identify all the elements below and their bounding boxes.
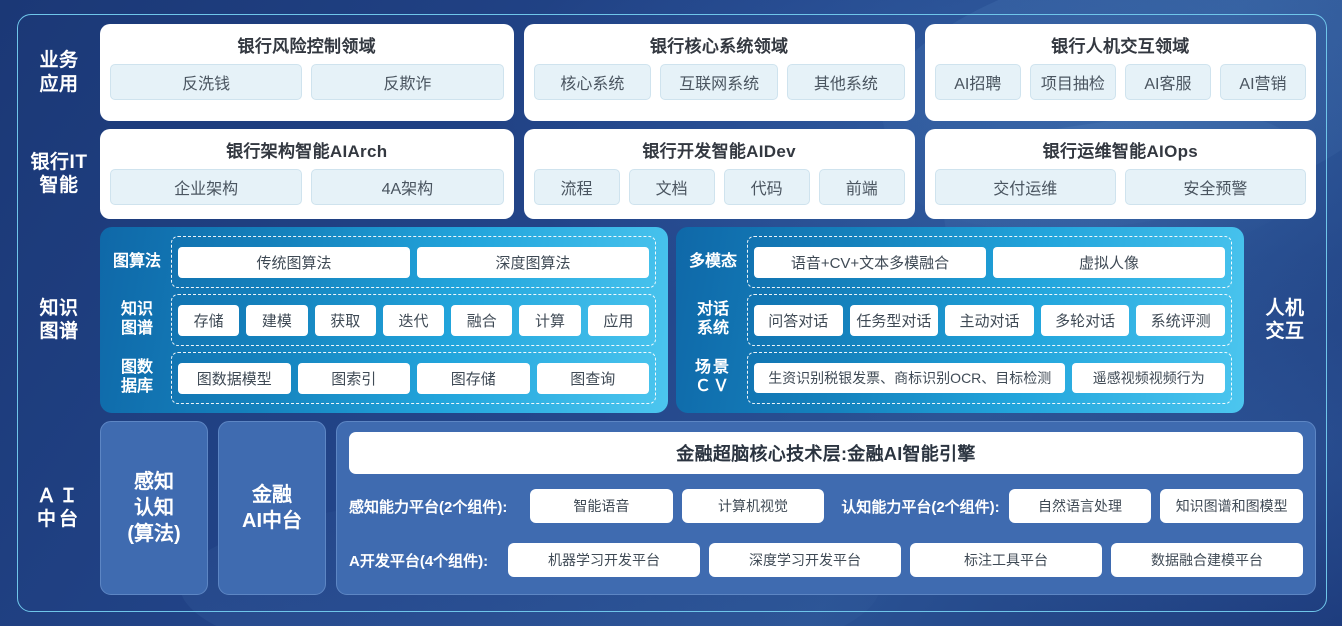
kg-item[interactable]: 传统图算法 — [178, 247, 410, 278]
kg-item[interactable]: 深度图算法 — [417, 247, 649, 278]
kg-item[interactable]: 图数据模型 — [178, 363, 291, 394]
kg-item[interactable]: 图存储 — [417, 363, 530, 394]
hmi-item[interactable]: 问答对话 — [754, 305, 843, 336]
tile-financial-ai-platform[interactable]: 金融 AI中台 — [218, 421, 326, 595]
chip-group: AI招聘 项目抽检 AI客服 AI营销 — [935, 64, 1306, 100]
chip-item[interactable]: 其他系统 — [787, 64, 905, 100]
chip-group: 反洗钱 反欺诈 — [110, 64, 504, 100]
panel-knowledge-graph: 图算法 传统图算法 深度图算法 知识 图谱 存储 建模 获取 迭代 — [100, 227, 668, 413]
platform-component[interactable]: 知识图谱和图模型 — [1160, 489, 1303, 523]
chip-item[interactable]: 核心系统 — [534, 64, 652, 100]
layer-knowledge-and-interaction: 知识 图谱 图算法 传统图算法 深度图算法 知识 图谱 存储 — [28, 227, 1316, 413]
platform-component[interactable]: 智能语音 — [530, 489, 673, 523]
chip-item[interactable]: 文档 — [629, 169, 715, 205]
chip-item[interactable]: 4A架构 — [311, 169, 503, 205]
platform-label-development: A开发平台(4个组件): — [349, 550, 499, 571]
hmi-item[interactable]: 系统评测 — [1136, 305, 1225, 336]
hmi-item[interactable]: 主动对话 — [945, 305, 1034, 336]
layer-label-human-machine: 人机 交互 — [1254, 227, 1316, 413]
card-title: 银行运维智能AIOps — [1043, 137, 1198, 162]
card-aidev[interactable]: 银行开发智能AIDev 流程 文档 代码 前端 — [524, 129, 915, 219]
card-title: 银行人机交互领域 — [1051, 32, 1189, 57]
chip-item[interactable]: 代码 — [724, 169, 810, 205]
chip-item[interactable]: 反欺诈 — [311, 64, 503, 100]
card-aiarch[interactable]: 银行架构智能AIArch 企业架构 4A架构 — [100, 129, 514, 219]
kg-row-knowledge-graph: 知识 图谱 存储 建模 获取 迭代 融合 计算 应用 — [110, 294, 656, 346]
chip-item[interactable]: 反洗钱 — [110, 64, 302, 100]
kg-row-label: 知识 图谱 — [110, 301, 164, 339]
layer-label-ai-platform: ＡＩ 中台 — [28, 421, 90, 595]
layer-ai-platform: ＡＩ 中台 感知 认知 (算法) 金融 AI中台 金融超脑核心技术层:金融AI智… — [28, 421, 1316, 595]
kg-row-graph-database: 图数 据库 图数据模型 图索引 图存储 图查询 — [110, 352, 656, 404]
hmi-row-multimodal: 多模态 语音+CV+文本多模融合 虚拟人像 — [686, 236, 1232, 288]
tile-perception-cognition[interactable]: 感知 认知 (算法) — [100, 421, 208, 595]
hmi-row-scene-cv: 场景 ＣＶ 生资识别税银发票、商标识别OCR、目标检测 遥感视频视频行为 — [686, 352, 1232, 404]
bank-it-cards: 银行架构智能AIArch 企业架构 4A架构 银行开发智能AIDev 流程 文档… — [100, 129, 1316, 219]
kg-item[interactable]: 图索引 — [298, 363, 411, 394]
kg-item[interactable]: 图查询 — [537, 363, 650, 394]
card-bank-human-machine[interactable]: 银行人机交互领域 AI招聘 项目抽检 AI客服 AI营销 — [925, 24, 1316, 121]
chip-item[interactable]: 企业架构 — [110, 169, 302, 205]
hmi-item[interactable]: 生资识别税银发票、商标识别OCR、目标检测 — [754, 363, 1065, 393]
chip-item[interactable]: 安全预警 — [1125, 169, 1306, 205]
platform-label-perception: 感知能力平台(2个组件): — [349, 496, 521, 517]
kg-item[interactable]: 获取 — [315, 305, 376, 336]
layer-label-bank-it: 银行IT 智能 — [28, 129, 90, 219]
financial-ai-engine-box: 金融超脑核心技术层:金融AI智能引擎 感知能力平台(2个组件): 智能语音 计算… — [336, 421, 1316, 595]
hmi-item[interactable]: 遥感视频视频行为 — [1072, 363, 1225, 393]
card-title: 银行架构智能AIArch — [226, 137, 387, 162]
platform-component[interactable]: 数据融合建模平台 — [1111, 543, 1303, 577]
middle-panels: 图算法 传统图算法 深度图算法 知识 图谱 存储 建模 获取 迭代 — [100, 227, 1244, 413]
chip-group: 交付运维 安全预警 — [935, 169, 1306, 205]
chip-item[interactable]: 交付运维 — [935, 169, 1116, 205]
ai-platform-content: 感知 认知 (算法) 金融 AI中台 金融超脑核心技术层:金融AI智能引擎 感知… — [100, 421, 1316, 595]
chip-item[interactable]: AI招聘 — [935, 64, 1021, 100]
architecture-frame: 业务 应用 银行风险控制领域 反洗钱 反欺诈 银行核心系统领域 核心系统 互联网… — [17, 14, 1327, 612]
hmi-item[interactable]: 虚拟人像 — [993, 247, 1225, 278]
hmi-items-dashed-box: 问答对话 任务型对话 主动对话 多轮对话 系统评测 — [747, 294, 1232, 346]
hmi-items-dashed-box: 语音+CV+文本多模融合 虚拟人像 — [747, 236, 1232, 288]
chip-group: 企业架构 4A架构 — [110, 169, 504, 205]
kg-items-dashed-box: 图数据模型 图索引 图存储 图查询 — [171, 352, 656, 404]
kg-row-label: 图算法 — [110, 253, 164, 272]
kg-item[interactable]: 计算 — [519, 305, 580, 336]
hmi-items-dashed-box: 生资识别税银发票、商标识别OCR、目标检测 遥感视频视频行为 — [747, 352, 1232, 404]
platform-component[interactable]: 计算机视觉 — [682, 489, 825, 523]
diagram-root: 业务 应用 银行风险控制领域 反洗钱 反欺诈 银行核心系统领域 核心系统 互联网… — [0, 0, 1342, 626]
engine-title: 金融超脑核心技术层:金融AI智能引擎 — [349, 432, 1303, 474]
kg-item[interactable]: 建模 — [246, 305, 307, 336]
layer-bank-it-intelligence: 银行IT 智能 银行架构智能AIArch 企业架构 4A架构 银行开发智能AID… — [28, 129, 1316, 219]
chip-item[interactable]: 项目抽检 — [1030, 64, 1116, 100]
kg-item[interactable]: 应用 — [588, 305, 649, 336]
kg-items-dashed-box: 存储 建模 获取 迭代 融合 计算 应用 — [171, 294, 656, 346]
panel-human-machine-interaction: 多模态 语音+CV+文本多模融合 虚拟人像 对话 系统 问答对话 任务型对话 主… — [676, 227, 1244, 413]
platform-row-development: A开发平台(4个组件): 机器学习开发平台 深度学习开发平台 标注工具平台 数据… — [349, 538, 1303, 582]
kg-item[interactable]: 存储 — [178, 305, 239, 336]
chip-item[interactable]: 互联网系统 — [660, 64, 778, 100]
platform-label-cognition: 认知能力平台(2个组件): — [841, 496, 999, 517]
hmi-item[interactable]: 语音+CV+文本多模融合 — [754, 247, 986, 278]
platform-component[interactable]: 标注工具平台 — [910, 543, 1102, 577]
chip-group: 核心系统 互联网系统 其他系统 — [534, 64, 905, 100]
hmi-row-label: 多模态 — [686, 253, 740, 272]
chip-item[interactable]: AI客服 — [1125, 64, 1211, 100]
layer-label-business: 业务 应用 — [28, 24, 90, 121]
kg-item[interactable]: 融合 — [451, 305, 512, 336]
platform-row-capabilities: 感知能力平台(2个组件): 智能语音 计算机视觉 认知能力平台(2个组件): 自… — [349, 484, 1303, 528]
business-cards: 银行风险控制领域 反洗钱 反欺诈 银行核心系统领域 核心系统 互联网系统 其他系… — [100, 24, 1316, 121]
panel-divider — [668, 227, 676, 413]
platform-component[interactable]: 自然语言处理 — [1009, 489, 1152, 523]
kg-items-dashed-box: 传统图算法 深度图算法 — [171, 236, 656, 288]
chip-item[interactable]: AI营销 — [1220, 64, 1306, 100]
kg-row-graph-algorithm: 图算法 传统图算法 深度图算法 — [110, 236, 656, 288]
platform-component[interactable]: 机器学习开发平台 — [508, 543, 700, 577]
chip-item[interactable]: 前端 — [819, 169, 905, 205]
chip-item[interactable]: 流程 — [534, 169, 620, 205]
card-aiops[interactable]: 银行运维智能AIOps 交付运维 安全预警 — [925, 129, 1316, 219]
hmi-row-label: 场景 ＣＶ — [686, 359, 740, 397]
kg-row-label: 图数 据库 — [110, 359, 164, 397]
hmi-row-dialog-system: 对话 系统 问答对话 任务型对话 主动对话 多轮对话 系统评测 — [686, 294, 1232, 346]
card-bank-risk-control[interactable]: 银行风险控制领域 反洗钱 反欺诈 — [100, 24, 514, 121]
layer-label-knowledge-graph: 知识 图谱 — [28, 227, 90, 413]
layer-business-application: 业务 应用 银行风险控制领域 反洗钱 反欺诈 银行核心系统领域 核心系统 互联网… — [28, 24, 1316, 121]
card-title: 银行核心系统领域 — [650, 32, 788, 57]
kg-item[interactable]: 迭代 — [383, 305, 444, 336]
card-bank-core-system[interactable]: 银行核心系统领域 核心系统 互联网系统 其他系统 — [524, 24, 915, 121]
hmi-row-label: 对话 系统 — [686, 301, 740, 339]
hmi-item[interactable]: 多轮对话 — [1041, 305, 1130, 336]
hmi-item[interactable]: 任务型对话 — [850, 305, 939, 336]
card-title: 银行开发智能AIDev — [642, 137, 796, 162]
platform-component[interactable]: 深度学习开发平台 — [709, 543, 901, 577]
chip-group: 流程 文档 代码 前端 — [534, 169, 905, 205]
card-title: 银行风险控制领域 — [238, 32, 376, 57]
